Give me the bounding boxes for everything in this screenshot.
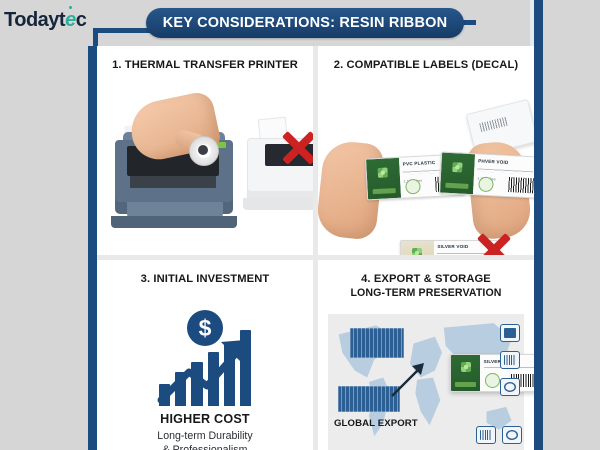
banner-connector-right	[462, 20, 476, 25]
label-seal-icon	[478, 176, 494, 192]
growth-bar-chart-icon	[159, 348, 251, 406]
header-banner-title: KEY CONSIDERATIONS: RESIN RIBBON	[163, 15, 448, 31]
higher-cost-headline: HIGHER COST	[97, 412, 313, 426]
export-route-arrow-icon	[388, 358, 432, 400]
quadrant-grid: 1. THERMAL TRANSFER PRINTER	[97, 46, 534, 450]
right-accent-bar	[534, 0, 543, 450]
brand-logo-text-before: Todayt	[4, 9, 65, 31]
quadrant-2-artwork: PVC PLASTIC 1.18 inches PHVER VOID 1	[318, 80, 534, 255]
label-barcode-icon	[508, 177, 534, 193]
quadrant-3-title: 3. INITIAL INVESTMENT	[97, 272, 313, 287]
investment-caption-line2: & Professionalism	[97, 443, 313, 450]
quadrant-1-artwork	[97, 80, 313, 255]
quadrant-initial-investment: 3. INITIAL INVESTMENT $	[97, 260, 313, 450]
label-name: SILVER VOID	[437, 244, 468, 249]
white-printer-base	[243, 198, 313, 210]
quality-check-icon	[502, 426, 522, 444]
quadrant-4-title: 4. EXPORT & STORAGE LONG-TERM PRESERVATI…	[318, 272, 534, 301]
label-seal-icon	[405, 179, 421, 195]
label-green-panel	[440, 153, 475, 195]
quadrant-4-title-main: 4. EXPORT & STORAGE	[361, 273, 491, 285]
ribbon-core	[198, 145, 208, 155]
header-banner: KEY CONSIDERATIONS: RESIN RIBBON	[146, 8, 464, 38]
label-green-panel	[451, 355, 480, 391]
label-name: PHVER VOID	[478, 158, 509, 165]
logistics-icon-column	[500, 324, 522, 405]
fragile-handling-icon	[500, 378, 520, 396]
red-x-icon	[279, 128, 313, 168]
quadrant-4-subtitle: LONG-TERM PRESERVATION	[318, 287, 534, 301]
label-phver-void: PHVER VOID 1.18 inches	[439, 151, 534, 198]
red-x-icon	[474, 230, 514, 255]
printer-roller	[130, 176, 216, 188]
shipping-container-icon	[500, 324, 520, 342]
label-green-panel	[366, 158, 401, 200]
label-name: PVC PLASTIC	[403, 160, 436, 167]
world-map: SILVER VOID	[328, 314, 524, 450]
brand-logo-accent-e: e	[65, 9, 76, 31]
quadrant-export-storage: 4. EXPORT & STORAGE LONG-TERM PRESERVATI…	[318, 260, 534, 450]
quadrant-3-artwork: $ HIGHER COST Long-term Durabi	[97, 294, 313, 450]
left-accent-bar	[88, 46, 97, 450]
label-beige-panel	[401, 241, 434, 255]
quadrant-1-title: 1. THERMAL TRANSFER PRINTER	[97, 58, 313, 73]
package-weight-icon	[476, 426, 496, 444]
quadrant-thermal-transfer-printer: 1. THERMAL TRANSFER PRINTER	[97, 46, 313, 255]
quadrant-2-title: 2. COMPATIBLE LABELS (DECAL)	[318, 58, 534, 73]
infographic-canvas: Todaytec KEY CONSIDERATIONS: RESIN RIBBO…	[0, 0, 600, 450]
investment-caption-line1: Long-term Durability	[97, 429, 313, 443]
quadrant-compatible-labels: 2. COMPATIBLE LABELS (DECAL) PVC PLASTIC…	[318, 46, 534, 255]
label-white-panel: PHVER VOID 1.18 inches	[473, 154, 534, 197]
brand-logo: Todaytec	[4, 10, 86, 30]
label-seal-icon	[485, 373, 500, 388]
quadrant-4-artwork: SILVER VOID	[318, 308, 534, 450]
printer-base	[111, 216, 237, 228]
quadrant-card: 1. THERMAL TRANSFER PRINTER	[97, 46, 534, 450]
investment-caption: Long-term Durability & Professionalism	[97, 429, 313, 450]
brand-logo-text-after: c	[76, 9, 87, 31]
shipping-container-icon	[350, 328, 404, 358]
barcode-scan-icon	[500, 351, 520, 369]
label-detail-lines	[478, 168, 534, 174]
logistics-icon-row	[476, 426, 522, 444]
global-export-caption: GLOBAL EXPORT	[334, 418, 418, 429]
brand-logo-dot-icon	[69, 6, 72, 9]
